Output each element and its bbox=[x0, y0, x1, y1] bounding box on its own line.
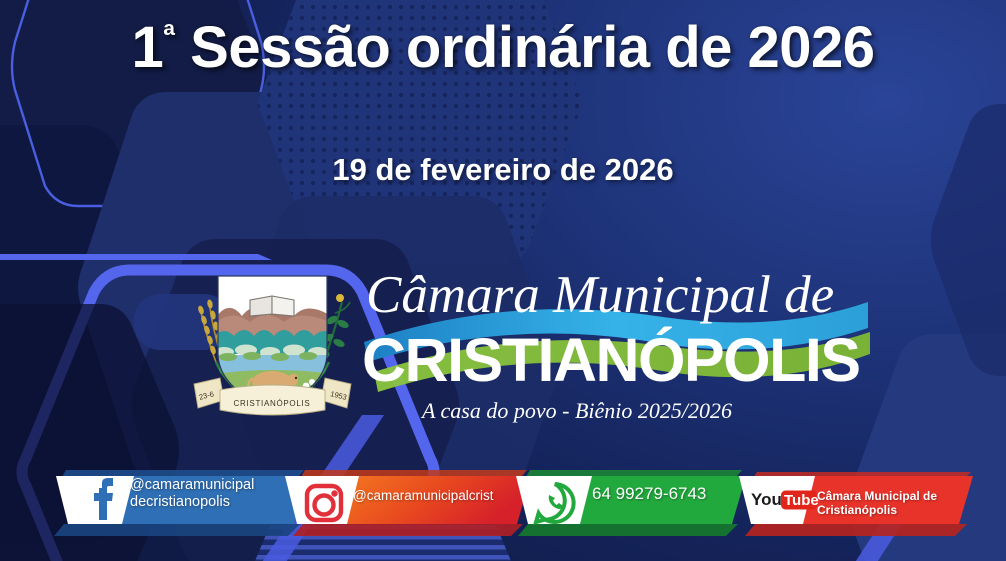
session-date: 19 de fevereiro de 2026 bbox=[0, 152, 1006, 188]
social-facebook[interactable]: @camaramunicipal decristianopolis bbox=[42, 468, 312, 524]
social-instagram[interactable]: @camaramunicipalcrist bbox=[283, 468, 533, 524]
facebook-badge-bottom-shadow bbox=[54, 524, 300, 536]
wordmark-script-line: Câmara Municipal de bbox=[366, 266, 834, 324]
instagram-badge-body bbox=[333, 476, 531, 524]
wordmark-city: CRISTIANÓPOLIS bbox=[362, 326, 860, 394]
coat-of-arms: 23-6 CRISTIANÓPOLIS 1953 bbox=[180, 258, 365, 433]
facebook-badge-body bbox=[106, 476, 308, 524]
instagram-badge-iconplate bbox=[285, 476, 359, 524]
svg-text:Tube: Tube bbox=[784, 492, 819, 509]
youtube-badge-bottom-shadow bbox=[745, 524, 967, 536]
whatsapp-badge-body bbox=[568, 476, 746, 524]
title-container: 1ª Sessão ordinária de 2026 bbox=[0, 18, 1006, 79]
social-youtube[interactable]: You Tube Câmara Municipal de Cristianópo… bbox=[735, 470, 975, 526]
social-whatsapp[interactable]: 64 99279-6743 bbox=[508, 468, 748, 524]
page-title: 1ª Sessão ordinária de 2026 bbox=[0, 18, 1006, 79]
brand-block: 23-6 CRISTIANÓPOLIS 1953 bbox=[180, 250, 880, 440]
open-book bbox=[250, 296, 294, 316]
whatsapp-badge-bottom-shadow bbox=[518, 524, 738, 536]
youtube-icon: You Tube bbox=[751, 490, 819, 510]
svg-text:You: You bbox=[751, 490, 782, 509]
session-banner: 1ª Sessão ordinária de 2026 19 de fevere… bbox=[0, 0, 1006, 561]
instagram-badge-bottom-shadow bbox=[293, 524, 523, 536]
hexagon-shape-rightedge bbox=[930, 100, 1006, 380]
wordmark-slogan: A casa do povo - Biênio 2025/2026 bbox=[420, 398, 732, 423]
ribbon-city: CRISTIANÓPOLIS bbox=[234, 399, 311, 408]
wordmark: Câmara Municipal de CRISTIANÓPOLIS A cas… bbox=[356, 250, 876, 440]
